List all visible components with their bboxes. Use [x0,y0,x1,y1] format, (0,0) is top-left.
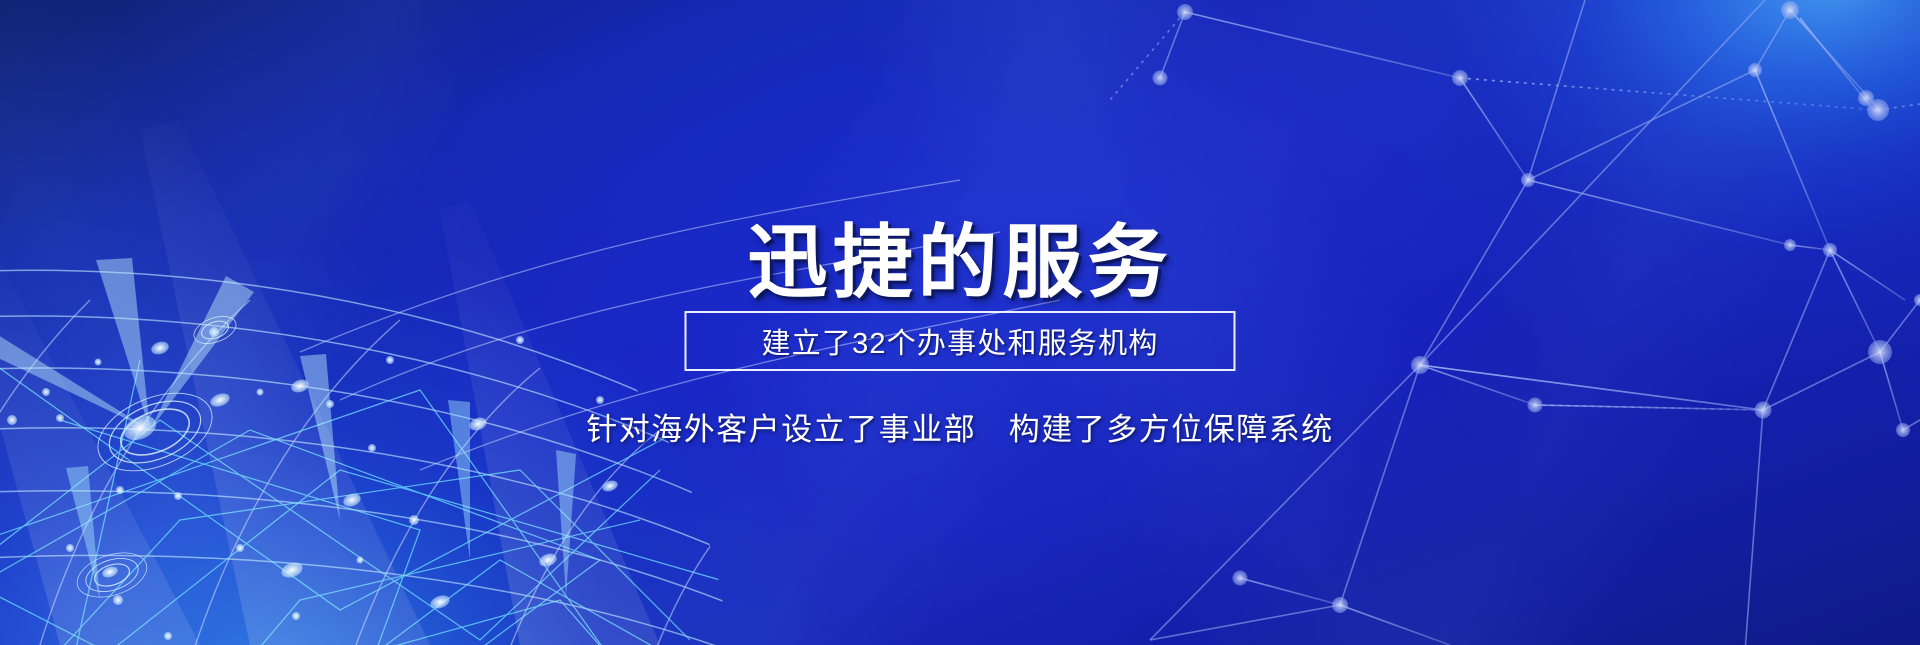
highlight-box: 建立了32个办事处和服务机构 [685,311,1236,371]
banner-content: 迅捷的服务 建立了32个办事处和服务机构 针对海外客户设立了事业部 构建了多方位… [0,0,1920,645]
tagline-text: 针对海外客户设立了事业部 构建了多方位保障系统 [0,404,1920,449]
highlight-box-text: 建立了32个办事处和服务机构 [761,320,1158,362]
service-banner: 迅捷的服务 建立了32个办事处和服务机构 针对海外客户设立了事业部 构建了多方位… [0,0,1920,645]
page-title: 迅捷的服务 [0,216,1920,310]
